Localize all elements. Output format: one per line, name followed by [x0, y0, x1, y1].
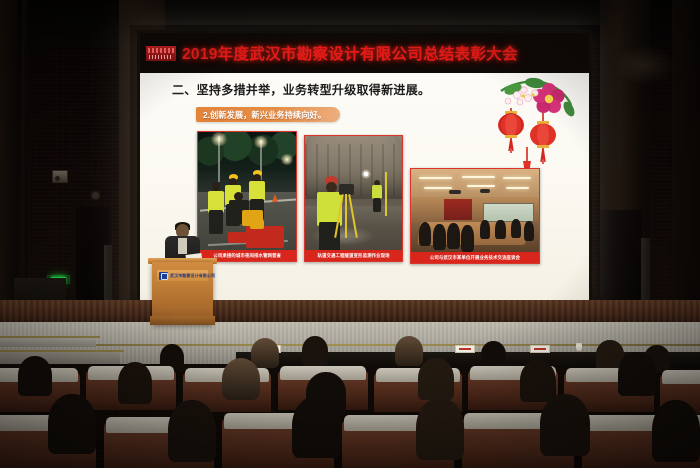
slide-subheading-bar: 2.创新发展，新兴业务持续向好。: [196, 107, 340, 122]
audience-member: [520, 360, 556, 402]
slide-title-bar: 2019年度武汉市勘察设计有限公司总结表彰大会: [140, 33, 589, 73]
slide-headline: 二、坚持多措并举，业务转型升级取得新进展。: [172, 81, 430, 98]
audience-member: [416, 398, 464, 460]
audience-member: [652, 400, 700, 462]
stage-gold-trim: [0, 344, 700, 346]
photo-2-caption: 轨道交通工程隧道变形监测作业现场: [317, 253, 389, 259]
wall-sensor-icon: [92, 192, 99, 199]
seat-headrest: [662, 370, 700, 384]
photo-3-caption: 公司与武汉市某单位开展业务技术交流座谈会: [430, 255, 520, 261]
audience-member: [222, 358, 260, 400]
podium-name-plate: 武汉市勘察设计有限公司: [157, 270, 208, 281]
slide-photo-3: 公司与武汉市某单位开展业务技术交流座谈会: [410, 168, 540, 264]
slide-subheading: 2.创新发展，新兴业务持续向好。: [203, 109, 326, 121]
audience-member: [418, 358, 454, 400]
audience-member: [18, 356, 52, 396]
step-gold-trim-2: [0, 350, 124, 352]
podium-logo-icon: [159, 272, 168, 280]
podium-text: 武汉市勘察设计有限公司: [170, 273, 215, 279]
speaker-shirt: [178, 238, 187, 254]
stage-step-upper: [0, 338, 96, 347]
photo-3-caption-bar: 公司与武汉市某单位开展业务技术交流座谈会: [411, 252, 539, 263]
tea-cup: [576, 344, 582, 351]
audience-member: [292, 396, 342, 458]
slide-photo-2: 轨道交通工程隧道变形监测作业现场: [304, 135, 403, 262]
slide-title: 2019年度武汉市勘察设计有限公司总结表彰大会: [182, 42, 518, 64]
company-logo-icon: [146, 46, 176, 61]
right-edge-column: [672, 0, 700, 340]
photo-2-caption-bar: 轨道交通工程隧道变形监测作业现场: [305, 250, 402, 261]
step-gold-trim-1: [0, 336, 100, 338]
audience-member: [48, 394, 96, 454]
photo-1-caption: 公司承接的城市夜间排水管网普查: [213, 253, 281, 259]
stage-step-lower: [0, 352, 120, 364]
audience-member: [540, 394, 590, 456]
auditorium-photo: 2019年度武汉市勘察设计有限公司总结表彰大会: [0, 0, 700, 468]
audience-member: [251, 338, 279, 368]
slide-photo-1: 公司承接的城市夜间排水管网普查: [197, 131, 297, 262]
name-card: [455, 345, 475, 353]
audience-member: [168, 400, 216, 462]
audience-member: [618, 352, 656, 396]
audience-member: [395, 336, 423, 366]
stage-front-texture: [0, 300, 700, 324]
wall-speaker-icon: [52, 170, 68, 183]
name-card: [530, 345, 550, 353]
audience-member: [118, 362, 152, 404]
audience-member: [302, 336, 328, 366]
audience-member: [481, 341, 506, 369]
podium-base: [150, 316, 215, 325]
